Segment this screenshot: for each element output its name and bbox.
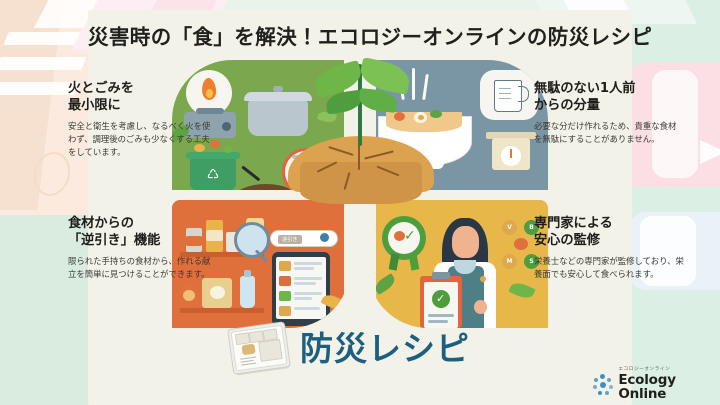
- clipboard-line-1: [428, 314, 454, 317]
- feature-heading-line1: 専門家による: [534, 215, 684, 232]
- bowl-veg: [430, 110, 442, 118]
- heart-icon: [514, 238, 528, 250]
- feature-heading-line2: 最小限に: [68, 97, 218, 114]
- logo-dot-1: [600, 374, 605, 379]
- logo-dot-7: [594, 378, 598, 382]
- recipe-row-3a: [294, 292, 322, 295]
- nutritionist-hand-2: [474, 300, 487, 314]
- logo-dot-2: [607, 378, 611, 382]
- search-chip-label: 逆引き: [278, 235, 302, 244]
- pot-handle: [273, 86, 283, 92]
- brand-lockup: 防災レシピ: [228, 322, 470, 374]
- recipe-row-3b: [294, 297, 312, 300]
- background-stripe-2: [0, 57, 87, 70]
- earth-crack-1: [358, 144, 360, 170]
- feature-heading-line2: 安心の監修: [534, 232, 684, 249]
- brand-name: 防災レシピ: [300, 332, 470, 365]
- cup-gradation-1: [499, 88, 511, 89]
- poster-canvas: 災害時の「食」を解決！エコロジーオンラインの防災レシピ ♺: [0, 0, 720, 405]
- stove-knob: [222, 122, 231, 131]
- recipe-row-1a: [294, 262, 322, 265]
- recipe-thumb-1: [279, 261, 291, 271]
- recipe-row-2a: [294, 277, 322, 280]
- feature-text-portion: 無駄のない1人前 からの分量 必要な分だけ作れるため、貴重な食材を無駄にすること…: [534, 80, 684, 146]
- vitamin-badge-v: V: [502, 220, 517, 235]
- recipe-booklet-icon: [228, 322, 290, 374]
- bottle-cap: [244, 270, 251, 277]
- recipe-row-2b: [294, 282, 316, 285]
- booklet-line-1: [240, 356, 256, 359]
- pot-lid: [244, 92, 312, 101]
- logo-dot-3: [609, 385, 613, 389]
- recycle-symbol-icon: ♺: [204, 166, 222, 182]
- decor-leaf-6: [372, 273, 397, 295]
- feature-heading-line2: からの分量: [534, 97, 684, 114]
- feature-heading-line1: 食材からの: [68, 215, 218, 232]
- steam-line-2: [412, 68, 415, 100]
- feature-body-portion: 必要な分だけ作れるため、貴重な食材を無駄にすることがありません。: [534, 120, 684, 146]
- logo-dot-6: [593, 385, 597, 389]
- central-illustration: ♺: [168, 58, 552, 330]
- panel-expert: ✓ ✓ V B M S: [368, 200, 548, 328]
- bowl-egg-yolk: [418, 115, 424, 120]
- nutritionist-face: [452, 226, 479, 258]
- booklet-cell-1: [235, 332, 250, 345]
- feature-heading-fire-waste: 火とごみを 最小限に: [68, 80, 218, 115]
- clipboard-check-glyph: ✓: [436, 292, 445, 306]
- recipe-thumb-4: [279, 306, 291, 316]
- search-icon: [320, 233, 329, 242]
- logo-dot-5: [598, 391, 602, 395]
- feature-heading-reverse-lookup: 食材からの 「逆引き」機能: [68, 215, 218, 250]
- recipe-row-1b: [294, 267, 314, 270]
- feature-text-reverse-lookup: 食材からの 「逆引き」機能 限られた手持ちの食材から、作れる献立を簡単に見つける…: [68, 215, 218, 281]
- logo-dot-4: [605, 391, 609, 395]
- can-label-orange: [183, 290, 195, 301]
- cup-gradation-2: [499, 93, 511, 94]
- magnifier-icon: [234, 222, 270, 258]
- award-check-icon: ✓: [404, 228, 416, 242]
- decor-leaf-7: [508, 280, 535, 302]
- feature-heading-line2: 「逆引き」機能: [68, 232, 218, 249]
- rice-bag-window: [210, 286, 225, 299]
- food-scrap-3: [224, 146, 233, 153]
- vitamin-badge-m: M: [502, 254, 517, 269]
- ribbon-tail-right: [409, 253, 420, 270]
- page-title: 災害時の「食」を解決！エコロジーオンラインの防災レシピ: [88, 20, 632, 50]
- booklet-cell-4: [258, 339, 283, 362]
- booklet-line-3: [241, 363, 256, 366]
- ecology-online-name: Ecology Online: [618, 374, 720, 401]
- dotted-circle-logo-mark: [592, 374, 612, 396]
- water-bottle-icon: [240, 276, 255, 308]
- cooking-pot-icon: [248, 100, 308, 136]
- feature-body-expert: 栄養士などの専門家が監修しており、栄養面でも安心して食べられます。: [534, 255, 684, 281]
- pantry-shelf-2: [180, 308, 264, 313]
- feature-heading-line1: 火とごみを: [68, 80, 218, 97]
- feature-heading-expert: 専門家による 安心の監修: [534, 215, 684, 250]
- ribbon-tail-left: [389, 253, 400, 270]
- feature-heading-line1: 無駄のない1人前: [534, 80, 684, 97]
- nutritionist-badge: [480, 276, 486, 282]
- background-pink-triangle: [700, 140, 720, 164]
- booklet-photo: [241, 344, 255, 356]
- compost-arrow-icon: [242, 165, 261, 181]
- feature-body-reverse-lookup: 限られた手持ちの食材から、作れる献立を簡単に見つけることができます。: [68, 255, 218, 281]
- feature-body-fire-waste: 安全と衛生を考慮し、なるべく火を使わず、調理後のごみも少なくする工夫をしています…: [68, 120, 218, 159]
- recipe-thumb-2: [279, 276, 291, 286]
- ecology-online-logo[interactable]: エコロジーオンライン Ecology Online: [592, 368, 720, 401]
- recipe-row-4a: [294, 307, 320, 310]
- cracked-earth-base: [300, 162, 422, 204]
- recipe-thumb-3: [279, 291, 291, 301]
- feature-text-fire-waste: 火とごみを 最小限に 安全と衛生を考慮し、なるべく火を使わず、調理後のごみも少な…: [68, 80, 218, 159]
- bowl-carrot: [394, 112, 405, 121]
- clipboard-clamp: [432, 272, 450, 279]
- booklet-page: [230, 325, 287, 372]
- scale-needle: [510, 149, 512, 158]
- steam-line-3: [422, 74, 428, 100]
- feature-text-expert: 専門家による 安心の監修 栄養士などの専門家が監修しており、栄養面でも安心して食…: [534, 215, 684, 281]
- feature-heading-portion: 無駄のない1人前 からの分量: [534, 80, 684, 115]
- logo-dot-center: [600, 382, 606, 388]
- ecology-online-text: エコロジーオンライン Ecology Online: [618, 368, 720, 401]
- cup-gradation-3: [499, 98, 511, 99]
